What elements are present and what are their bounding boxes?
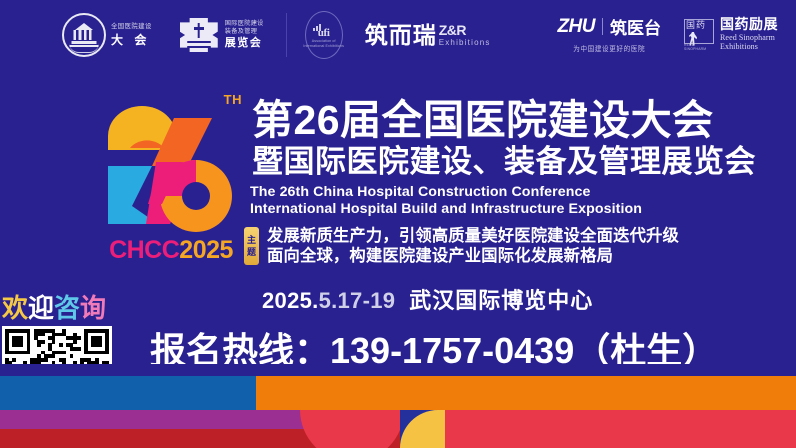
reed-emblem-caption: REED SINOPHARM xyxy=(684,43,715,51)
zr-cn-name: 筑而瑞 xyxy=(365,24,437,47)
logo-divider xyxy=(286,13,287,57)
zhu-slogan: 为中国建设更好的医院 xyxy=(573,43,645,53)
theme-badge-char-2: 题 xyxy=(247,246,256,258)
theme-badge-char-1: 主 xyxy=(247,234,256,246)
top-logo-bar: 全国医院建设 大 会 国际医院建设 装备及管理 展览会 ufi Associat… xyxy=(0,0,796,70)
snowflake-medical-icon xyxy=(178,14,220,56)
ufi-line-2: International Exhibitions xyxy=(303,44,344,48)
event-dates: 5.17-19 xyxy=(319,288,396,313)
chcc-26-graphic xyxy=(96,88,246,238)
hospital-seal-icon xyxy=(62,13,106,57)
exhibition-mark-subtitle-2: 装备及管理 xyxy=(225,29,264,35)
ufi-badge-icon: ufi Association of International Exhibit… xyxy=(305,11,343,59)
sub-title-en: International Hospital Build and Infrast… xyxy=(250,201,642,218)
date-venue-line: 2025.5.17-19武汉国际博览中心 xyxy=(262,283,593,315)
chcc-year: 2025 xyxy=(179,236,233,264)
chcc-wordmark: CHCC2025 xyxy=(96,238,246,263)
ordinal-suffix: TH xyxy=(224,92,242,107)
main-title-cn: 第26届全国医院建设大会 xyxy=(252,100,714,141)
ufi-initials: ufi xyxy=(318,27,330,39)
theme-badge: 主 题 xyxy=(244,227,259,265)
band-blue xyxy=(0,376,256,410)
zr-en-word: Exhibitions xyxy=(439,39,491,47)
ufi-line-1: Association of xyxy=(312,39,336,43)
title-en-block: The 26th China Hospital Construction Con… xyxy=(250,184,642,218)
band-orange xyxy=(256,376,796,410)
theme-line-2: 面向全球，构建医院建设产业国际化发展新格局 xyxy=(267,247,679,267)
welcome-text: 欢迎咨询 xyxy=(2,295,114,321)
zr-en-abbrev: Z&R xyxy=(439,23,491,37)
zhuyitai-logo: ZHU 筑医台 为中国建设更好的医院 xyxy=(557,14,661,53)
sub-title-cn: 暨国际医院建设、装备及管理展览会 xyxy=(252,146,756,177)
exhibition-mark-logo: 国际医院建设 装备及管理 展览会 xyxy=(152,14,264,56)
reed-emblem-icon: 国药 REED SINOPHARM xyxy=(681,17,715,51)
event-year: 2025. xyxy=(262,288,319,313)
right-logo-group: ZHU 筑医台 为中国建设更好的医院 国药 REED SINOPHARM 国药励… xyxy=(557,14,778,53)
reed-en-line-1: Reed Sinopharm xyxy=(720,34,778,42)
welcome-char-2: 迎 xyxy=(28,293,54,323)
welcome-char-4: 询 xyxy=(80,293,106,323)
organizer-seal-title: 大 会 xyxy=(111,34,152,46)
welcome-char-1: 欢 xyxy=(2,293,28,323)
exhibition-mark-subtitle-1: 国际医院建设 xyxy=(225,21,264,27)
theme-block: 主 题 发展新质生产力，引领高质量美好医院建设全面迭代升级 面向全球，构建医院建… xyxy=(244,227,679,267)
zhu-cn-name: 筑医台 xyxy=(610,14,661,39)
zr-exhibitions-logo: 筑而瑞 Z&R Exhibitions xyxy=(365,23,491,47)
poster-canvas: 全国医院建设 大 会 国际医院建设 装备及管理 展览会 ufi Associat… xyxy=(0,0,796,448)
theme-line-1: 发展新质生产力，引领高质量美好医院建设全面迭代升级 xyxy=(267,227,679,247)
reed-cn-name: 国药励展 xyxy=(720,17,778,31)
bottom-color-bands xyxy=(0,364,796,448)
shape-semicircle xyxy=(300,410,404,448)
organizer-seal-subtitle: 全国医院建设 xyxy=(111,24,152,30)
chcc-26-logo: TH CHCC2025 xyxy=(96,88,246,263)
event-venue: 武汉国际博览中心 xyxy=(409,288,593,313)
zhu-mark: ZHU xyxy=(557,16,595,38)
reed-sinopharm-logo: 国药 REED SINOPHARM 国药励展 Reed Sinopharm Ex… xyxy=(681,17,778,51)
exhibition-mark-title: 展览会 xyxy=(225,38,264,49)
reed-emblem-chars: 国药 xyxy=(686,20,706,30)
chcc-letters: CHCC xyxy=(109,236,179,264)
main-title-en: The 26th China Hospital Construction Con… xyxy=(250,184,642,201)
band-spacer-navy xyxy=(0,364,796,376)
band-crimson xyxy=(445,410,796,448)
organizer-seal-logo: 全国医院建设 大 会 xyxy=(0,13,152,57)
welcome-char-3: 咨 xyxy=(54,293,80,323)
reed-en-line-2: Exhibitions xyxy=(720,43,778,51)
